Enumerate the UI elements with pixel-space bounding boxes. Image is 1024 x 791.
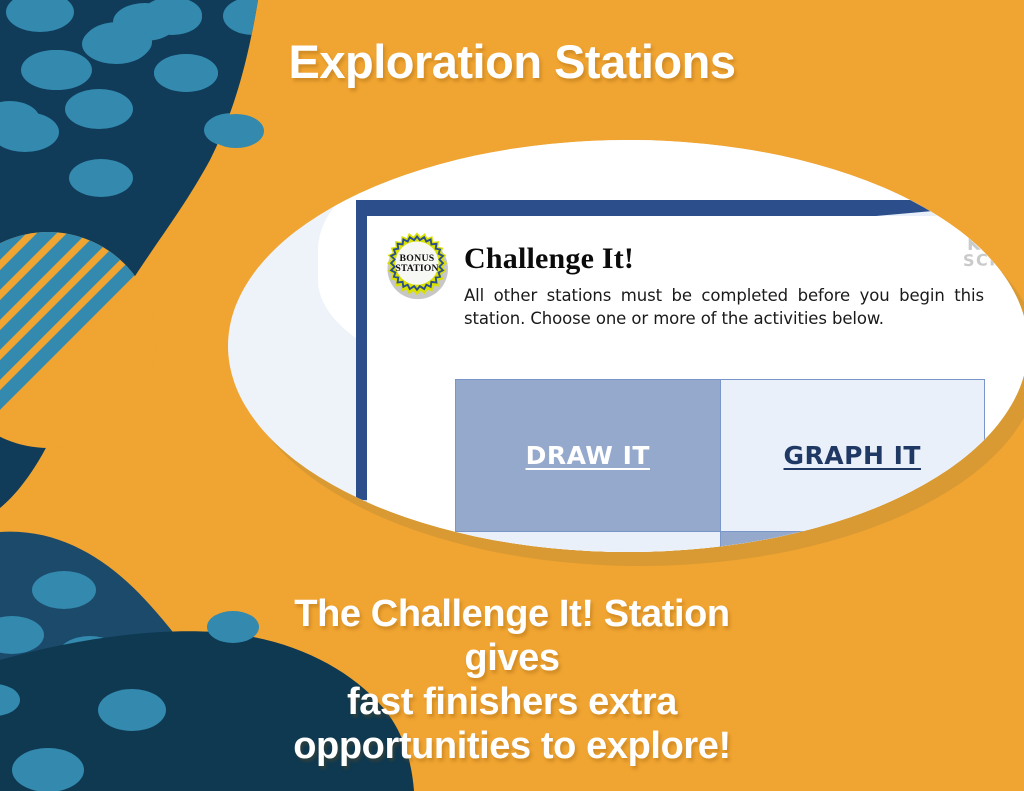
kesler-science-logo: KESLER SCIENCE .com [963, 235, 1024, 272]
caption-line-1: The Challenge It! Station gives [262, 592, 762, 680]
worksheet-title: Challenge It! [464, 242, 634, 276]
svg-text:STATION: STATION [395, 263, 438, 274]
worksheet-top-border [356, 200, 1024, 216]
worksheet-page: BONUS STATION KESLER SCIENCE .com Challe… [367, 216, 1024, 552]
caption-line-2: fast finishers extra [262, 680, 762, 724]
worksheet-left-border [356, 200, 367, 500]
activity-label: DRAW IT [526, 441, 650, 470]
table-row: DRAW IT GRAPH IT [456, 380, 985, 532]
worksheet-screenshot: BONUS STATION KESLER SCIENCE .com Challe… [356, 200, 1024, 552]
page-title: Exploration Stations [0, 34, 1024, 89]
card-body: BONUS STATION KESLER SCIENCE .com Challe… [228, 140, 1024, 552]
worksheet-left-border-fade [356, 500, 367, 552]
activity-cell-graph-it[interactable]: GRAPH IT [720, 380, 985, 532]
caption-text: The Challenge It! Station gives fast fin… [262, 592, 762, 768]
activity-cell-4[interactable] [720, 532, 985, 553]
activities-table: DRAW IT GRAPH IT [455, 379, 985, 552]
svg-text:BONUS: BONUS [400, 253, 435, 264]
table-row [456, 532, 985, 553]
activity-cell-draw-it[interactable]: DRAW IT [456, 380, 721, 532]
activity-label: GRAPH IT [784, 441, 921, 470]
kesler-logo-line2: SCIENCE [963, 251, 1024, 269]
caption-line-3: opportunities to explore! [262, 724, 762, 768]
bonus-station-seal-icon: BONUS STATION [381, 230, 453, 302]
content-card: BONUS STATION KESLER SCIENCE .com Challe… [228, 140, 1024, 570]
activity-cell-3[interactable] [456, 532, 721, 553]
worksheet-instructions: All other stations must be completed bef… [464, 284, 984, 331]
